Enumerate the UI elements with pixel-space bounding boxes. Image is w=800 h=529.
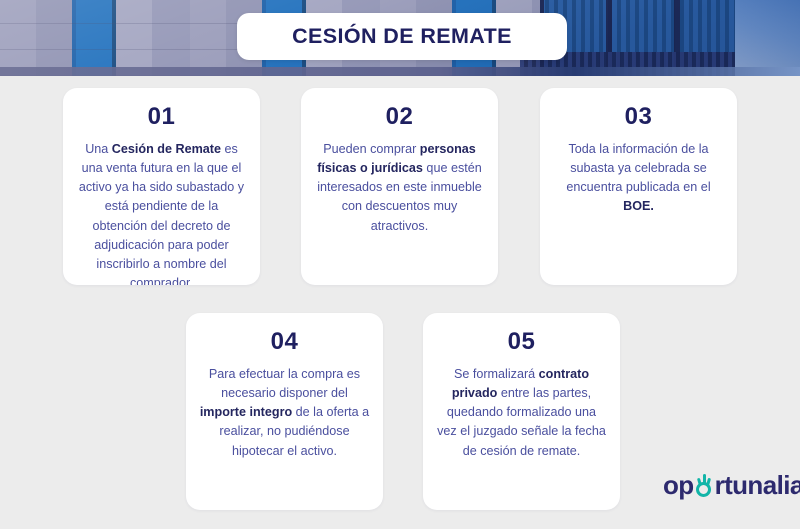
card-body-text: Toda la información de la subasta ya cel… xyxy=(540,140,737,217)
card-number: 01 xyxy=(63,103,260,131)
page-title: CESIÓN DE REMATE xyxy=(292,24,512,49)
info-card-02: 02 Pueden comprar personas físicas o jur… xyxy=(301,88,498,285)
card-number: 05 xyxy=(423,328,620,356)
oportunalia-hand-o-icon xyxy=(694,472,715,498)
logo-text-before: op xyxy=(663,472,694,498)
card-body-text: Se formalizará contrato privado entre la… xyxy=(423,365,620,461)
info-card-05: 05 Se formalizará contrato privado entre… xyxy=(423,313,620,510)
info-card-03: 03 Toda la información de la subasta ya … xyxy=(540,88,737,285)
oportunalia-logo[interactable]: op rtunalia xyxy=(663,470,800,500)
facade-base-rail xyxy=(0,67,800,76)
card-number: 02 xyxy=(301,103,498,131)
card-body-text: Pueden comprar personas físicas o jurídi… xyxy=(301,140,498,236)
page-title-pill: CESIÓN DE REMATE xyxy=(237,13,567,60)
logo-text-after: rtunalia xyxy=(715,472,800,498)
card-body-text: Para efectuar la compra es necesario dis… xyxy=(186,365,383,461)
card-body-text: Una Cesión de Remate es una venta futura… xyxy=(63,140,260,285)
card-number: 03 xyxy=(540,103,737,131)
info-card-04: 04 Para efectuar la compra es necesario … xyxy=(186,313,383,510)
info-card-01: 01 Una Cesión de Remate es una venta fut… xyxy=(63,88,260,285)
card-number: 04 xyxy=(186,328,383,356)
